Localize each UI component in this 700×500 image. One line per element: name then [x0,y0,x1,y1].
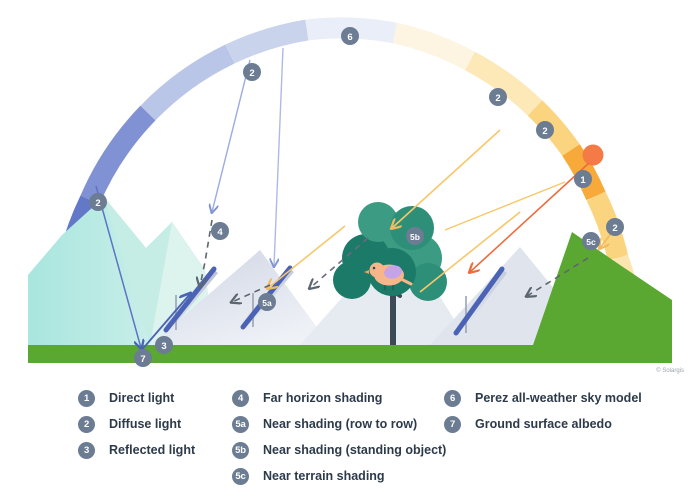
legend-item-reflected-light[interactable]: 3 Reflected light [78,437,195,463]
legend-label: Diffuse light [109,417,181,431]
legend-label: Perez all-weather sky model [475,391,642,405]
legend-badge: 6 [444,390,461,407]
legend-item-near-shading-object[interactable]: 5b Near shading (standing object) [232,437,446,463]
legend: 1 Direct light 2 Diffuse light 3 Reflect… [0,385,700,500]
legend-label: Near shading (row to row) [263,417,417,431]
legend-column-3: 6 Perez all-weather sky model 7 Ground s… [444,385,642,437]
marker-near-terrain: 5c [582,232,600,250]
svg-text:2: 2 [95,198,100,209]
svg-text:2: 2 [612,223,617,234]
svg-text:2: 2 [249,68,254,79]
marker-direct: 1 [574,170,592,188]
svg-text:4: 4 [217,227,223,238]
legend-item-far-horizon-shading[interactable]: 4 Far horizon shading [232,385,446,411]
svg-text:2: 2 [542,126,547,137]
legend-badge: 1 [78,390,95,407]
legend-column-2: 4 Far horizon shading 5a Near shading (r… [232,385,446,489]
legend-item-diffuse-light[interactable]: 2 Diffuse light [78,411,195,437]
legend-label: Far horizon shading [263,391,382,405]
marker-far-horizon: 4 [211,222,229,240]
legend-badge: 2 [78,416,95,433]
legend-item-ground-albedo[interactable]: 7 Ground surface albedo [444,411,642,437]
marker-diffuse-mountain: 2 [89,193,107,211]
legend-label: Near shading (standing object) [263,443,446,457]
credit-text: © Solargis [656,368,684,374]
sun-icon [583,145,604,166]
marker-albedo: 7 [134,349,152,367]
marker-diffuse-right-high: 2 [489,88,507,106]
legend-badge: 5c [232,468,249,485]
legend-column-1: 1 Direct light 2 Diffuse light 3 Reflect… [78,385,195,463]
marker-diffuse-right-low: 2 [536,121,554,139]
svg-text:6: 6 [347,32,352,43]
legend-badge: 5b [232,442,249,459]
legend-badge: 7 [444,416,461,433]
marker-near-object: 5b [406,227,424,245]
legend-item-near-shading-row[interactable]: 5a Near shading (row to row) [232,411,446,437]
marker-diffuse-terrain: 2 [606,218,624,236]
marker-reflected: 3 [155,336,173,354]
marker-near-row: 5a [258,293,276,311]
marker-diffuse-sky: 2 [243,63,261,81]
legend-item-direct-light[interactable]: 1 Direct light [78,385,195,411]
svg-text:5c: 5c [586,237,596,247]
legend-item-near-terrain-shading[interactable]: 5c Near terrain shading [232,463,446,489]
solar-scene: 1 2 2 2 2 2 3 4 5a 5b 5c 6 [0,0,700,380]
legend-label: Reflected light [109,443,195,457]
svg-text:1: 1 [580,175,586,186]
ground-band [28,345,672,363]
green-hill [533,232,672,345]
legend-label: Direct light [109,391,174,405]
svg-text:5a: 5a [262,298,272,308]
legend-label: Near terrain shading [263,469,385,483]
legend-badge: 4 [232,390,249,407]
legend-item-perez-sky-model[interactable]: 6 Perez all-weather sky model [444,385,642,411]
legend-badge: 5a [232,416,249,433]
svg-text:3: 3 [161,341,166,352]
diagram-root: 1 2 2 2 2 2 3 4 5a 5b 5c 6 [0,0,700,500]
marker-sky-model: 6 [341,27,359,45]
svg-text:5b: 5b [410,232,420,242]
svg-text:7: 7 [140,354,145,365]
legend-label: Ground surface albedo [475,417,612,431]
svg-text:2: 2 [495,93,500,104]
legend-badge: 3 [78,442,95,459]
